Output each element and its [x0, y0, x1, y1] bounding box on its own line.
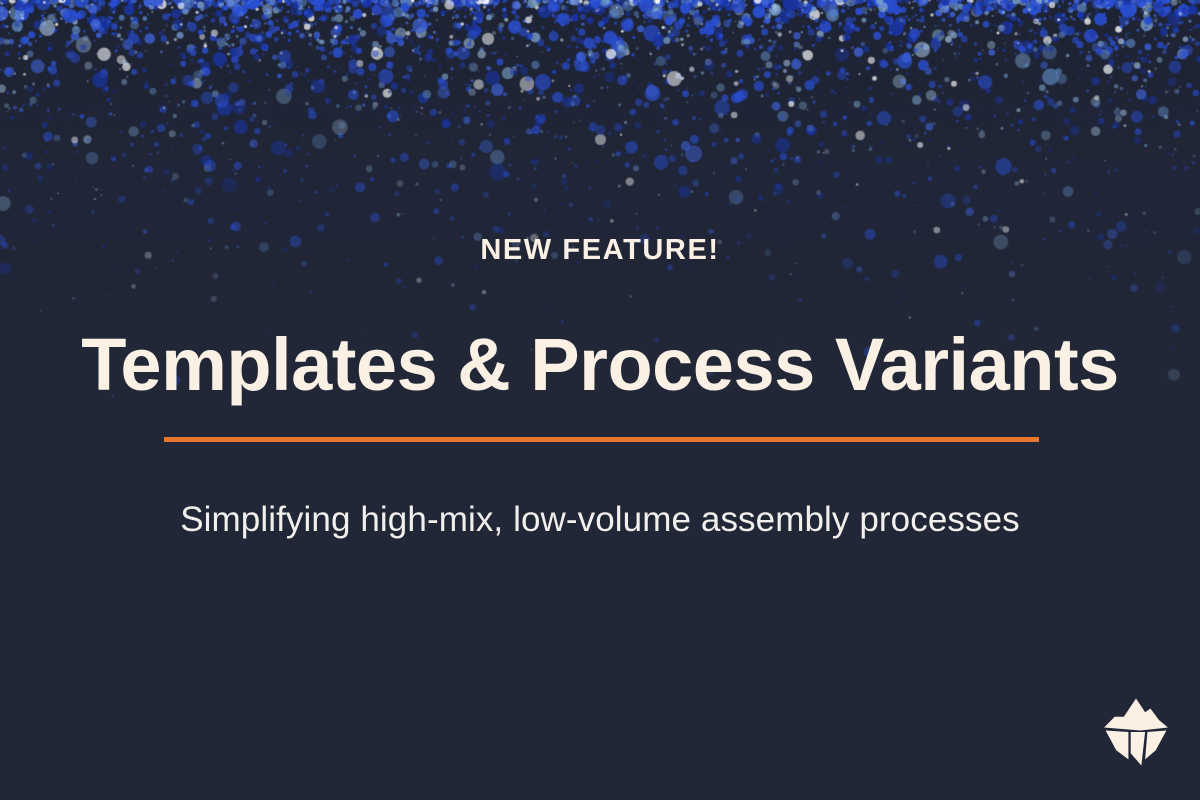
accent-divider	[164, 437, 1039, 442]
banner-content: NEW FEATURE! Templates & Process Variant…	[0, 0, 1200, 800]
promo-banner: NEW FEATURE! Templates & Process Variant…	[0, 0, 1200, 800]
page-title: Templates & Process Variants	[0, 322, 1200, 408]
subtitle-text: Simplifying high-mix, low-volume assembl…	[0, 498, 1200, 542]
iceberg-logo	[1098, 694, 1174, 770]
eyebrow-label: NEW FEATURE!	[0, 232, 1200, 268]
iceberg-icon	[1098, 694, 1174, 770]
